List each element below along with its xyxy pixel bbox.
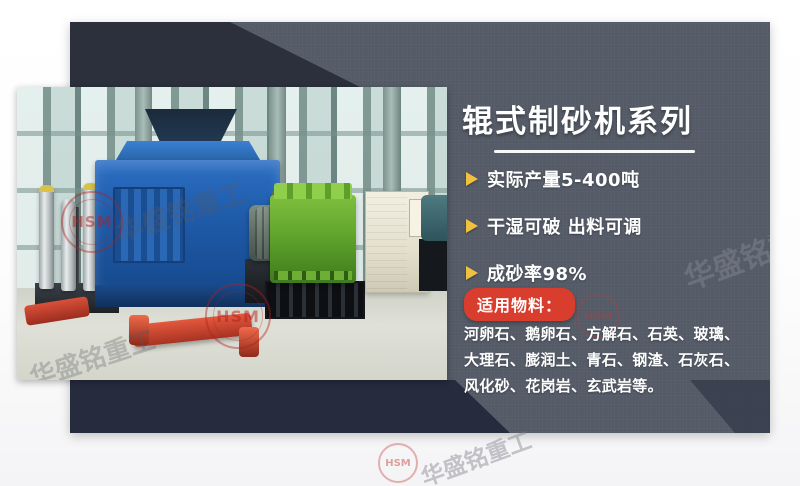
triangle-bullet-icon (466, 219, 478, 233)
triangle-bullet-icon (466, 172, 478, 186)
gearbox-bolts (274, 271, 352, 280)
title-divider (494, 150, 695, 153)
cabinet-louvers (367, 193, 407, 289)
feature-list: 实际产量5-400吨 干湿可破 出料可调 成砂率98% (466, 166, 766, 307)
gearbox-base-ribs (267, 283, 363, 317)
page-title: 辊式制砂机系列 (462, 96, 693, 141)
gearbox-top-covers (274, 183, 352, 199)
hsm-seal-watermark-bottom: HSM (378, 443, 418, 483)
shaft-flange (129, 315, 149, 345)
accumulator-cylinder (61, 199, 76, 291)
feature-label: 干湿可破 出料可调 (487, 213, 642, 239)
triangle-bullet-icon (466, 266, 478, 280)
materials-badge: 适用物料： (464, 288, 575, 321)
poster-stage: HSM 华盛铭重工 辊式制砂机系列 实际产量5-400吨 干湿可破 出料可调 成… (0, 0, 800, 486)
accumulator-cylinder (39, 185, 54, 289)
list-item: 干湿可破 出料可调 (466, 213, 766, 239)
product-photo: HSM 华盛铭重工 HSM 华盛铭重工 (17, 87, 447, 380)
teal-motor (421, 195, 447, 241)
list-item: 实际产量5-400吨 (466, 166, 766, 192)
feature-label: 实际产量5-400吨 (487, 166, 640, 192)
feature-label: 成砂率98% (487, 260, 587, 286)
shaft-flange (239, 327, 259, 357)
green-gearbox (270, 195, 356, 283)
machine-blue-ribs (113, 187, 185, 263)
cylinder-cap (39, 185, 54, 192)
materials-text: 河卵石、鹅卵石、方解石、石英、玻璃、大理石、膨润土、青石、钢渣、石灰石、风化砂、… (464, 322, 752, 399)
list-item: 成砂率98% (466, 260, 766, 286)
teal-motor-base (419, 239, 447, 291)
